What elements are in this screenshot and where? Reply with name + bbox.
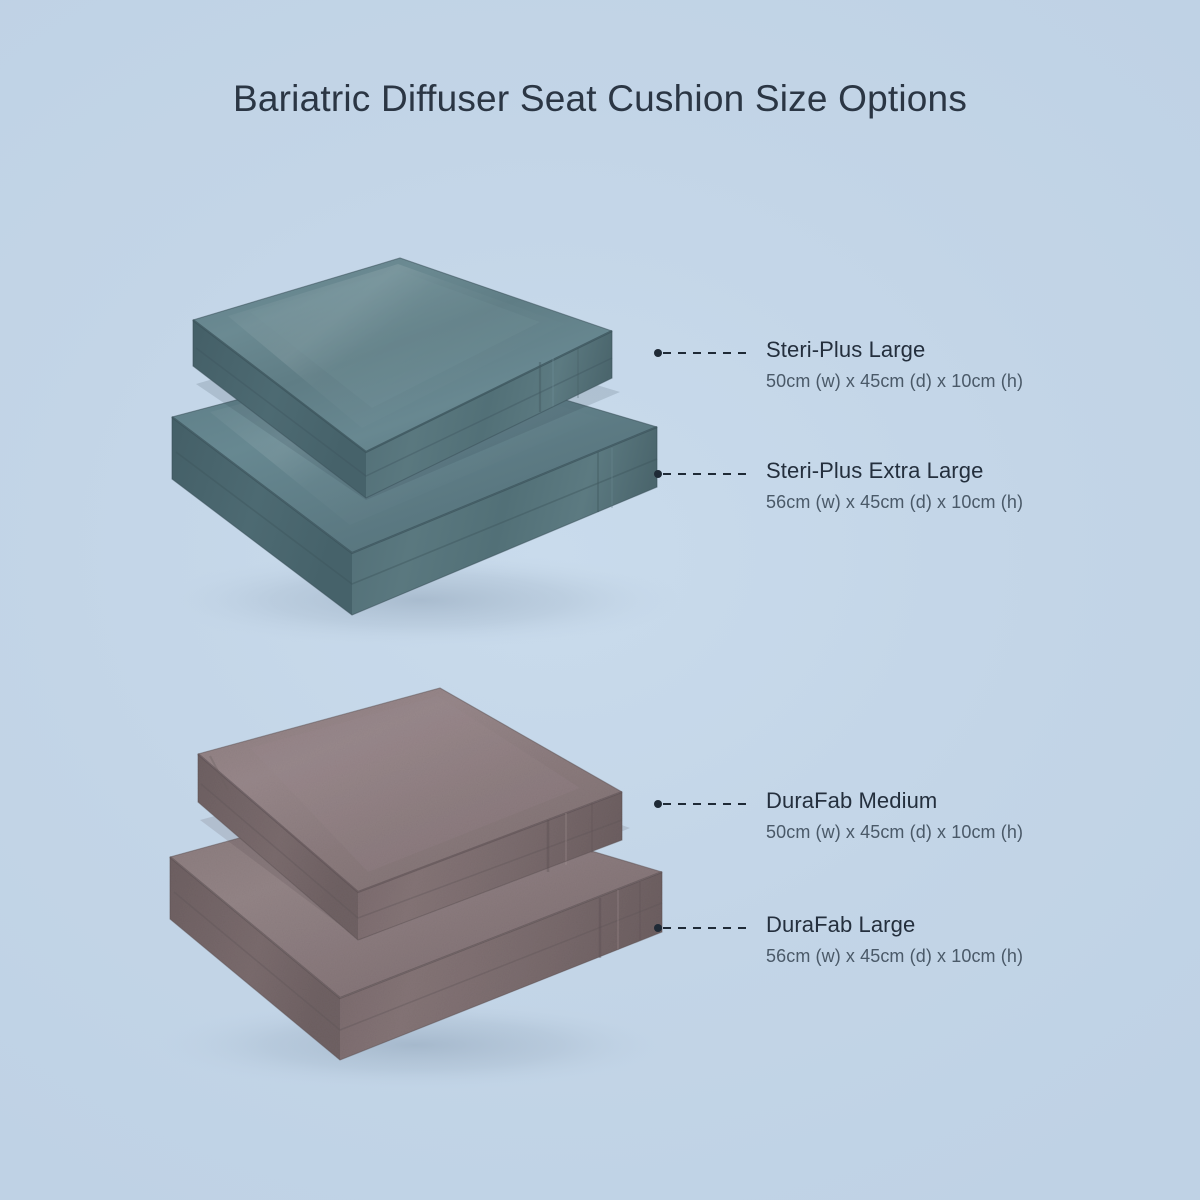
- cushion-illustration: [0, 0, 1200, 1200]
- callout-title: DuraFab Large: [766, 913, 1126, 936]
- steri-plus-cushion-stack: [150, 258, 690, 648]
- dot-leader-icon: [654, 347, 754, 359]
- callout-dimensions: 50cm (w) x 45cm (d) x 10cm (h): [766, 823, 1126, 842]
- dot-leader-icon: [654, 922, 754, 934]
- dot-leader-icon: [654, 798, 754, 810]
- callout-title: DuraFab Medium: [766, 789, 1126, 812]
- callout-title: Steri-Plus Extra Large: [766, 459, 1126, 482]
- dot-leader-icon: [654, 468, 754, 480]
- callout-dimensions: 56cm (w) x 45cm (d) x 10cm (h): [766, 493, 1126, 512]
- callout-dimensions: 56cm (w) x 45cm (d) x 10cm (h): [766, 947, 1126, 966]
- callout-dimensions: 50cm (w) x 45cm (d) x 10cm (h): [766, 372, 1126, 391]
- callout-title: Steri-Plus Large: [766, 338, 1126, 361]
- infographic-page: Bariatric Diffuser Seat Cushion Size Opt…: [0, 0, 1200, 1200]
- durafab-cushion-stack: [147, 688, 683, 1091]
